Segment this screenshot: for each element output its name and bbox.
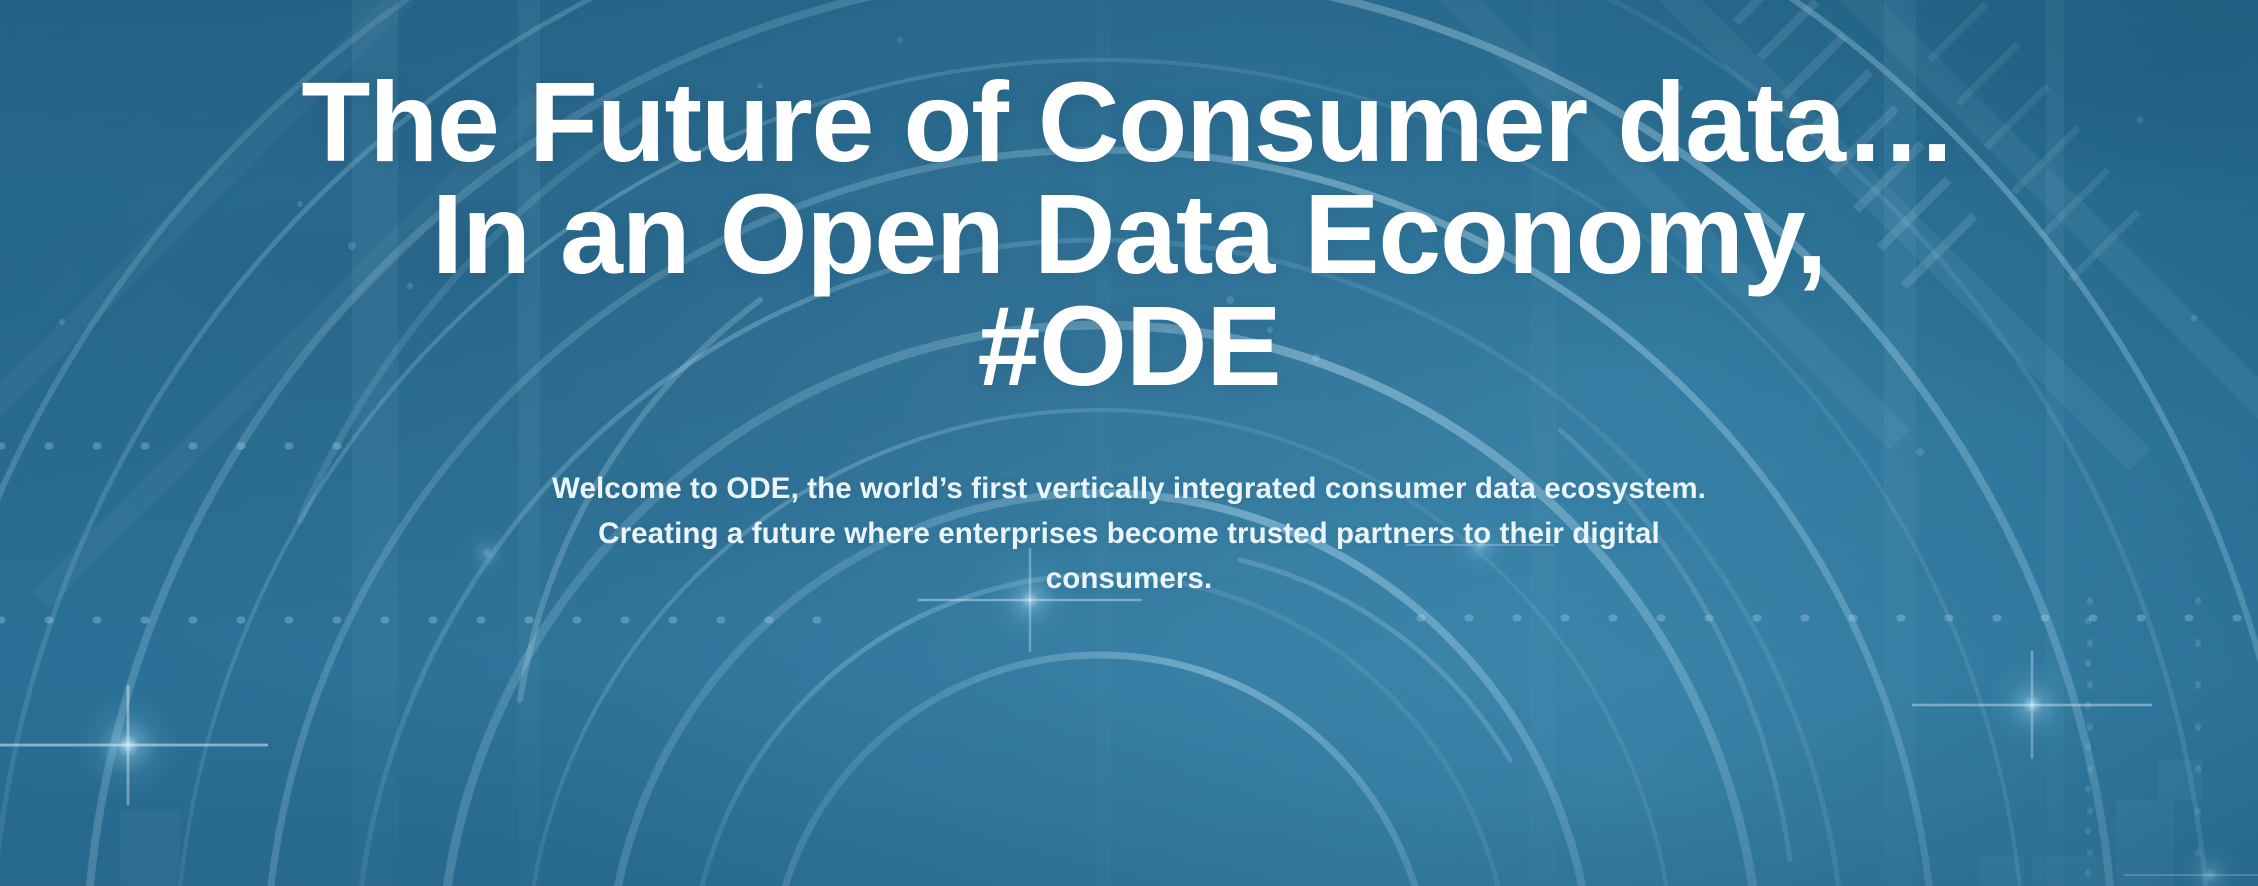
headline-line-2: In an Open Data Economy,	[0, 178, 2258, 290]
hero-content: The Future of Consumer data… In an Open …	[0, 0, 2258, 886]
headline-line-1: The Future of Consumer data…	[0, 66, 2258, 178]
hero-banner: The Future of Consumer data… In an Open …	[0, 0, 2258, 886]
headline-line-3: #ODE	[0, 290, 2258, 402]
page-title: The Future of Consumer data… In an Open …	[0, 66, 2258, 402]
hero-subtitle: Welcome to ODE, the world’s first vertic…	[529, 466, 1729, 601]
